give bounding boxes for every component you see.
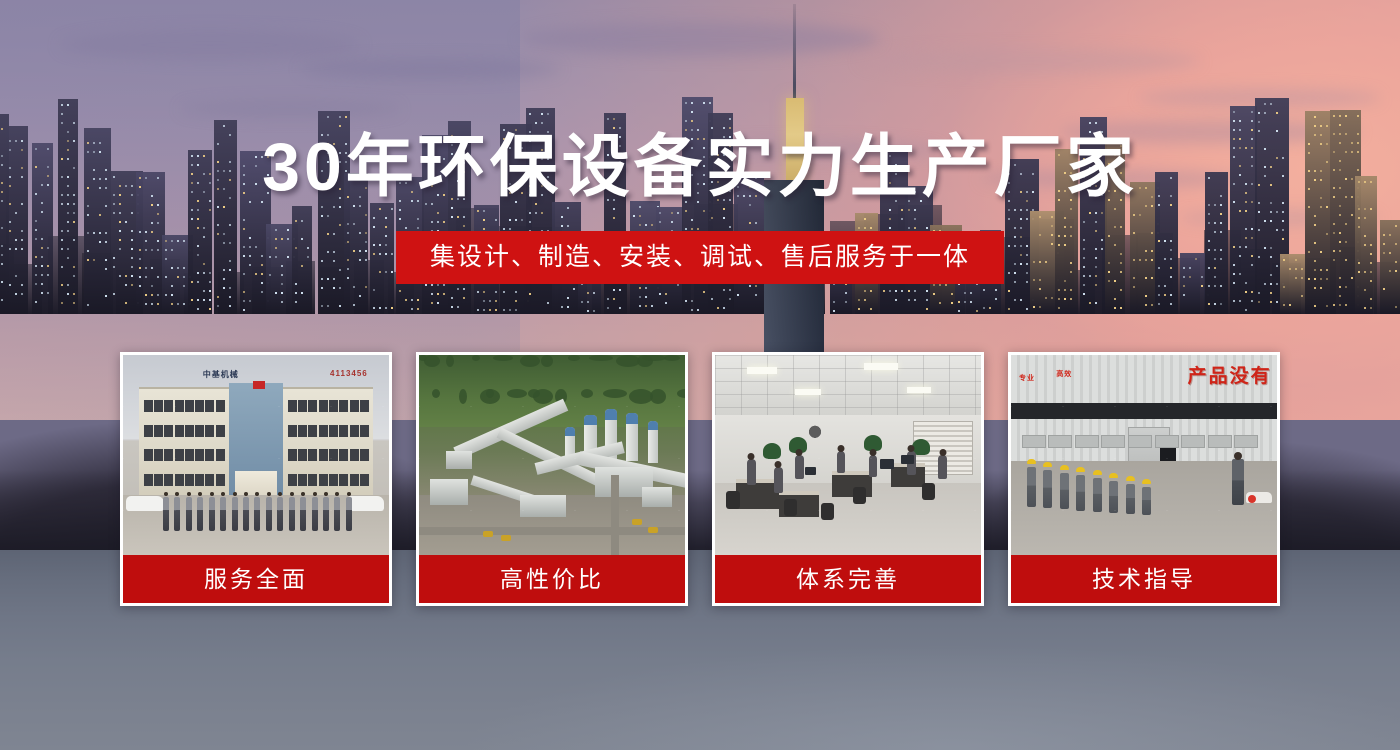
tower-spire [793, 4, 796, 100]
card-photo: 专业 高效 产品没有 [1011, 355, 1277, 555]
feature-card-list: 中基机械 4113456 服务全面 高性价比 [120, 352, 1280, 606]
factory-sign-text: 产品没有 [1188, 361, 1272, 388]
feature-card[interactable]: 专业 高效 产品没有 技术指导 [1008, 352, 1280, 606]
card-photo [715, 355, 981, 555]
subtitle-badge: 集设计、制造、安装、调试、售后服务于一体 [396, 231, 1004, 284]
card-caption: 体系完善 [715, 555, 981, 603]
promo-banner: 30年环保设备实力生产厂家 集设计、制造、安装、调试、售后服务于一体 中基机械 … [0, 0, 1400, 750]
card-caption: 高性价比 [419, 555, 685, 603]
page-title: 30年环保设备实力生产厂家 [0, 128, 1400, 206]
card-caption: 技术指导 [1011, 555, 1277, 603]
card-caption: 服务全面 [123, 555, 389, 603]
factory-sign-small: 高效 [1056, 369, 1072, 379]
card-photo: 中基机械 4113456 [123, 355, 389, 555]
card-photo [419, 355, 685, 555]
feature-card[interactable]: 中基机械 4113456 服务全面 [120, 352, 392, 606]
building-sign-text: 中基机械 [203, 369, 239, 380]
feature-card[interactable]: 体系完善 [712, 352, 984, 606]
feature-card[interactable]: 高性价比 [416, 352, 688, 606]
subtitle-container: 集设计、制造、安装、调试、售后服务于一体 [0, 231, 1400, 284]
factory-sign-small: 专业 [1019, 373, 1035, 383]
building-phone-text: 4113456 [330, 369, 368, 378]
